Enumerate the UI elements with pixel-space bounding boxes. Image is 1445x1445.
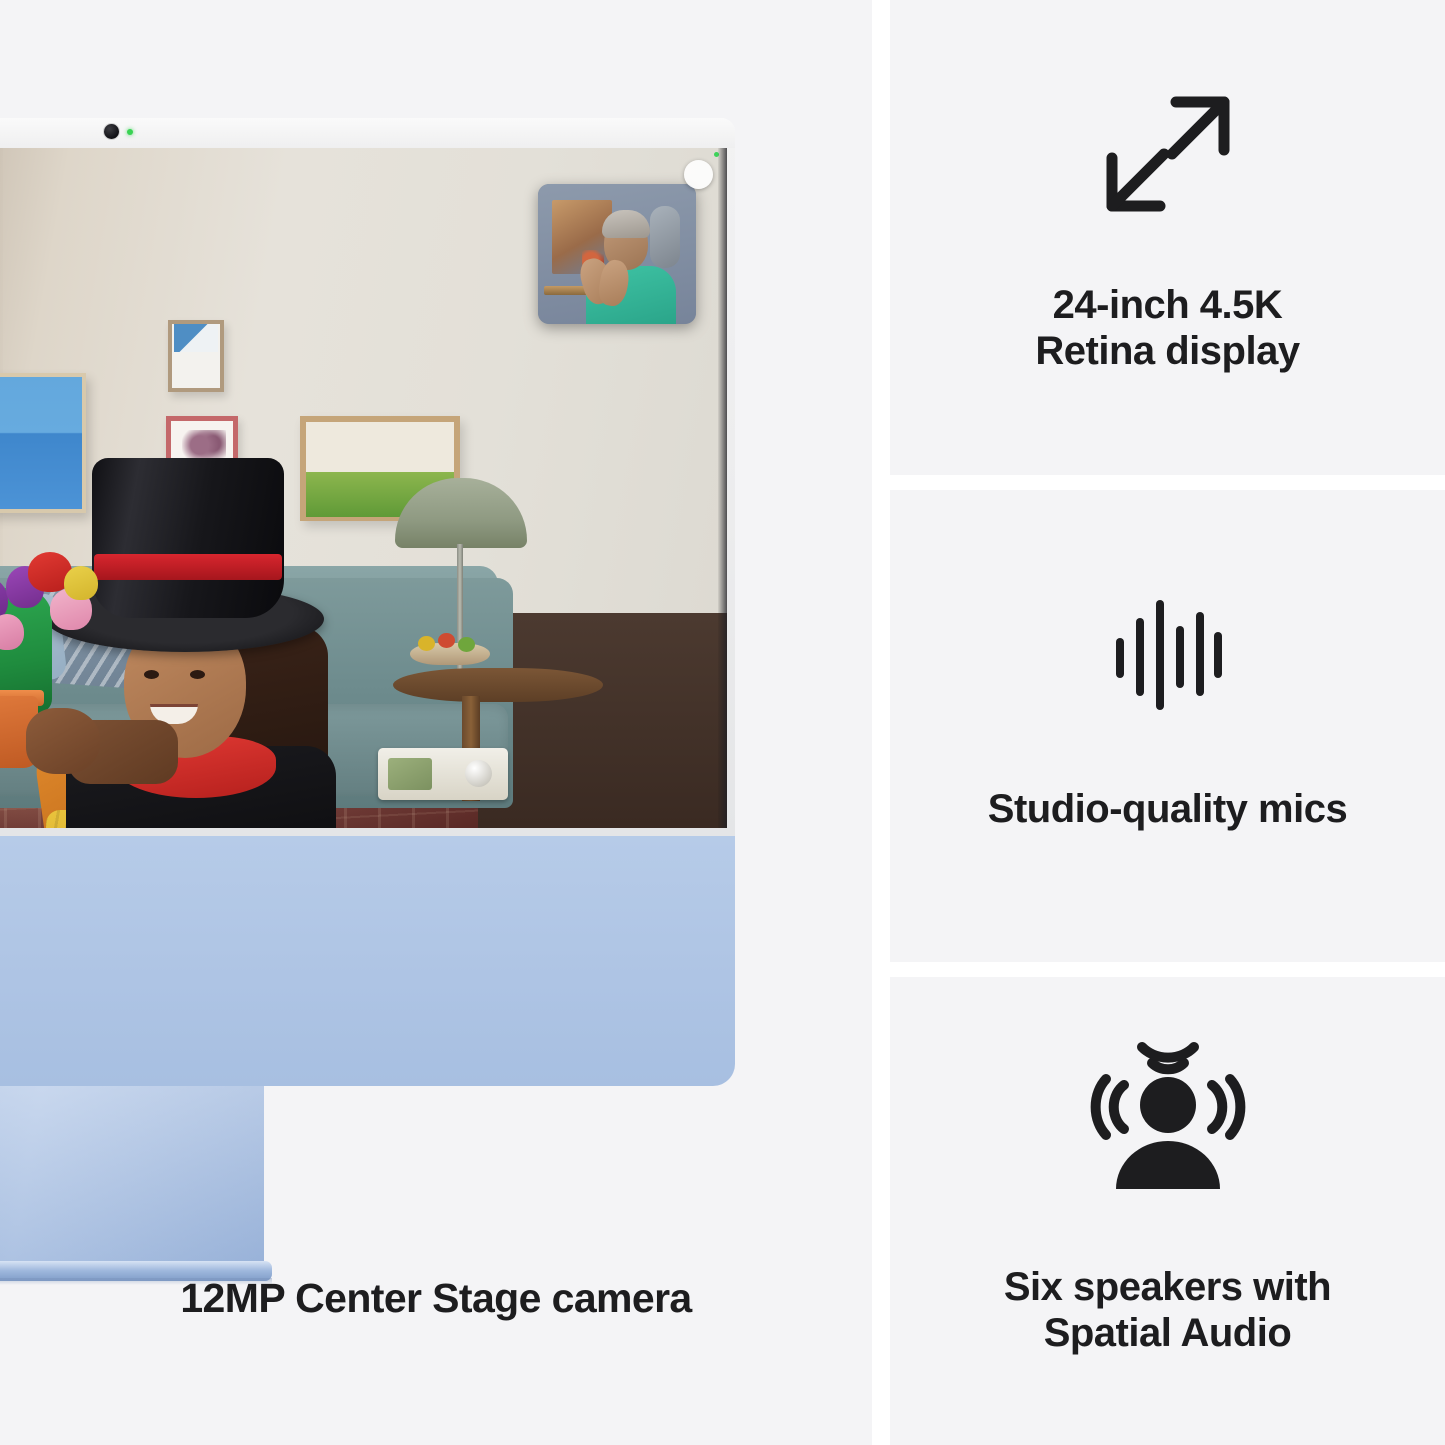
feature-card-display: 24-inch 4.5K Retina display (890, 0, 1445, 475)
call-control-button-icon[interactable] (684, 160, 713, 189)
feature-label-line2: Spatial Audio (1004, 1310, 1331, 1356)
waveform-bar (1136, 618, 1144, 696)
feature-card-audio-label: Six speakers with Spatial Audio (1004, 1264, 1331, 1357)
camera-feature-caption: 12MP Center Stage camera (0, 1276, 872, 1321)
feature-label-line2: Retina display (1035, 328, 1299, 374)
feature-card-mics-label: Studio-quality mics (988, 786, 1347, 832)
green-recording-led-icon (127, 129, 133, 135)
feature-card-display-label: 24-inch 4.5K Retina display (1035, 282, 1299, 375)
feature-label-line1: Six speakers with (1004, 1264, 1331, 1310)
waveform-bar (1176, 626, 1184, 688)
radio-knob (465, 760, 492, 787)
pip-speaker (650, 206, 680, 268)
feature-label-line1: Studio-quality mics (988, 786, 1347, 832)
framed-art-snow-image (174, 324, 218, 352)
fruit (458, 637, 475, 652)
child-hand (26, 708, 100, 774)
feature-card-audio: Six speakers with Spatial Audio (890, 977, 1445, 1445)
spatial-audio-person-icon (1088, 1027, 1248, 1202)
diagonal-resize-arrows-icon (1098, 88, 1238, 220)
imac-chin (0, 836, 735, 1086)
waveform-bar (1214, 632, 1222, 678)
fruit (418, 636, 435, 651)
pip-window-icon[interactable] (538, 184, 696, 324)
waveform-bar (1116, 638, 1124, 678)
top-hat-crown (92, 458, 284, 618)
imac-screen (0, 148, 727, 828)
round-side-table (393, 668, 603, 702)
framed-art-red-image (182, 430, 226, 460)
audio-waveform-icon (1116, 600, 1220, 710)
feature-label-line1: 24-inch 4.5K (1035, 282, 1299, 328)
radio-dial (388, 758, 432, 790)
top-hat-red-band (94, 554, 282, 580)
camera-feature-panel: 12MP Center Stage camera (0, 0, 872, 1445)
girl-eye (144, 670, 159, 679)
paper-flower-yellow (64, 566, 98, 600)
feature-card-mics: Studio-quality mics (890, 490, 1445, 962)
waveform-bar (1196, 612, 1204, 696)
waveform-bar (1156, 600, 1164, 710)
girl-eye (190, 670, 205, 679)
camera-lens-icon (104, 124, 119, 139)
imac-stand-highlight (0, 1086, 264, 1276)
fruit (438, 633, 455, 648)
imac-device (0, 118, 735, 1183)
waveform-bars (1116, 600, 1220, 710)
page-root: 12MP Center Stage camera 24-inch 4.5K Re… (0, 0, 1445, 1445)
screen-edge-shadow (718, 148, 727, 828)
imac-display-bezel (0, 118, 735, 836)
